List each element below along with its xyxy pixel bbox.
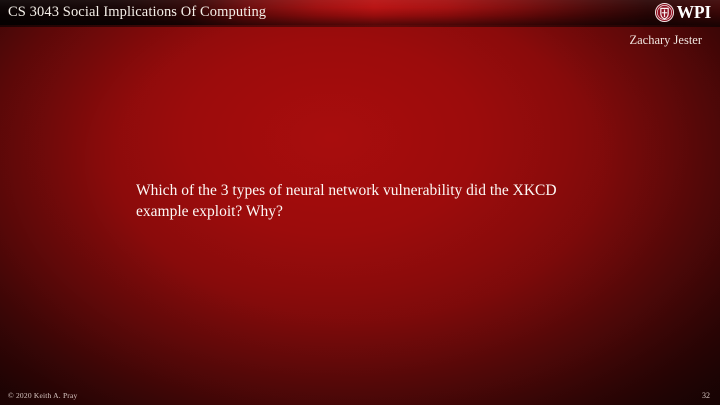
slide-page-number: 32: [702, 391, 710, 400]
footer-copyright: © 2020 Keith A. Pray: [8, 391, 78, 400]
author-name: Zachary Jester: [629, 33, 702, 48]
presentation-slide: CS 3043 Social Implications Of Computing…: [0, 0, 720, 405]
slide-body-text: Which of the 3 types of neural network v…: [136, 181, 606, 222]
slide-title-bar: CS 3043 Social Implications Of Computing…: [0, 0, 720, 25]
wpi-logo: WPI: [655, 1, 711, 23]
title-bar-divider: [0, 25, 720, 27]
wpi-wordmark: WPI: [677, 3, 711, 22]
course-title: CS 3043 Social Implications Of Computing: [8, 2, 266, 23]
wpi-seal-icon: [655, 3, 674, 22]
